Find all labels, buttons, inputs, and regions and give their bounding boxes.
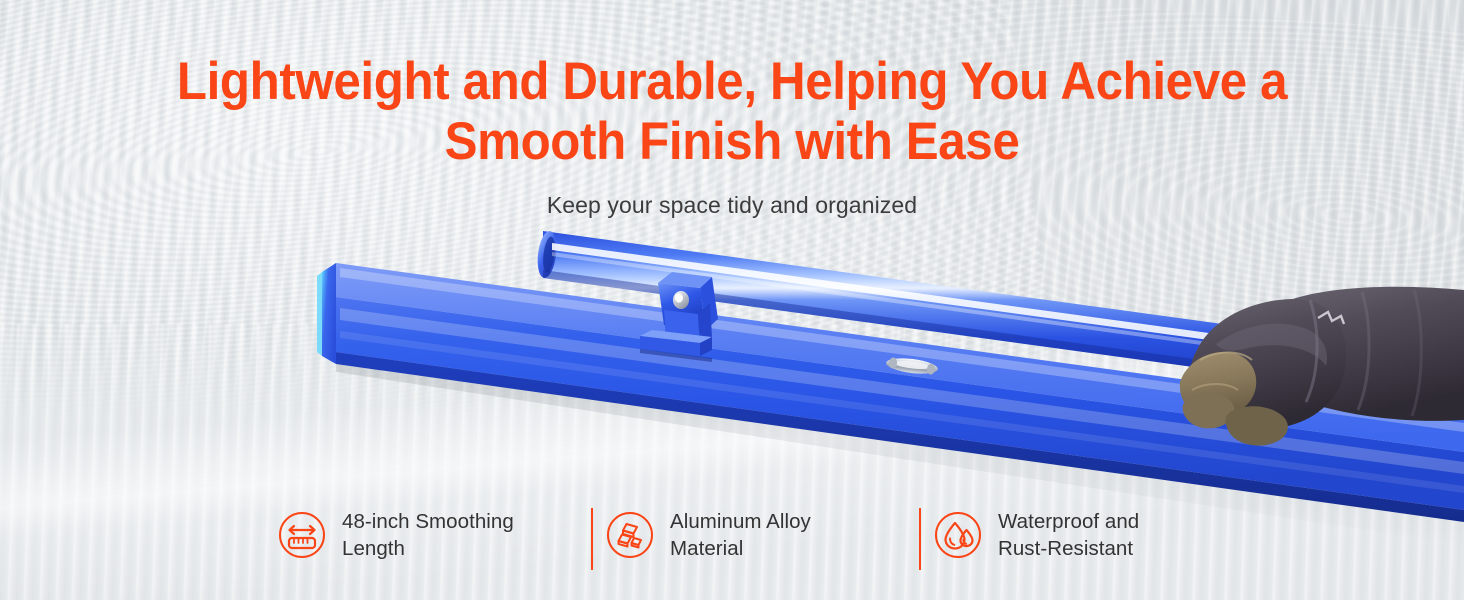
feature-item-aluminum-alloy: Aluminum Alloy Material bbox=[606, 508, 898, 562]
headline-line-2: Smooth Finish with Ease bbox=[51, 112, 1413, 172]
ruler-measure-icon bbox=[278, 511, 326, 559]
product-feature-banner: Lightweight and Durable, Helping You Ach… bbox=[0, 0, 1464, 600]
page-title: Lightweight and Durable, Helping You Ach… bbox=[51, 52, 1413, 172]
feature-strip: 48-inch Smoothing Length Aluminum Alloy … bbox=[278, 498, 1238, 572]
feature-divider-1 bbox=[591, 508, 593, 570]
headline-block: Lightweight and Durable, Helping You Ach… bbox=[0, 52, 1464, 219]
subtitle: Keep your space tidy and organized bbox=[0, 191, 1464, 219]
headline-line-1: Lightweight and Durable, Helping You Ach… bbox=[177, 52, 1287, 111]
feature-label: Waterproof and Rust-Resistant bbox=[998, 508, 1139, 562]
water-droplets-icon bbox=[934, 511, 982, 559]
feature-item-smoothing-length: 48-inch Smoothing Length bbox=[278, 508, 570, 562]
metal-ingots-icon bbox=[606, 511, 654, 559]
feature-divider-2 bbox=[919, 508, 921, 570]
feature-item-waterproof: Waterproof and Rust-Resistant bbox=[934, 508, 1226, 562]
feature-label: 48-inch Smoothing Length bbox=[342, 508, 514, 562]
feature-label: Aluminum Alloy Material bbox=[670, 508, 811, 562]
